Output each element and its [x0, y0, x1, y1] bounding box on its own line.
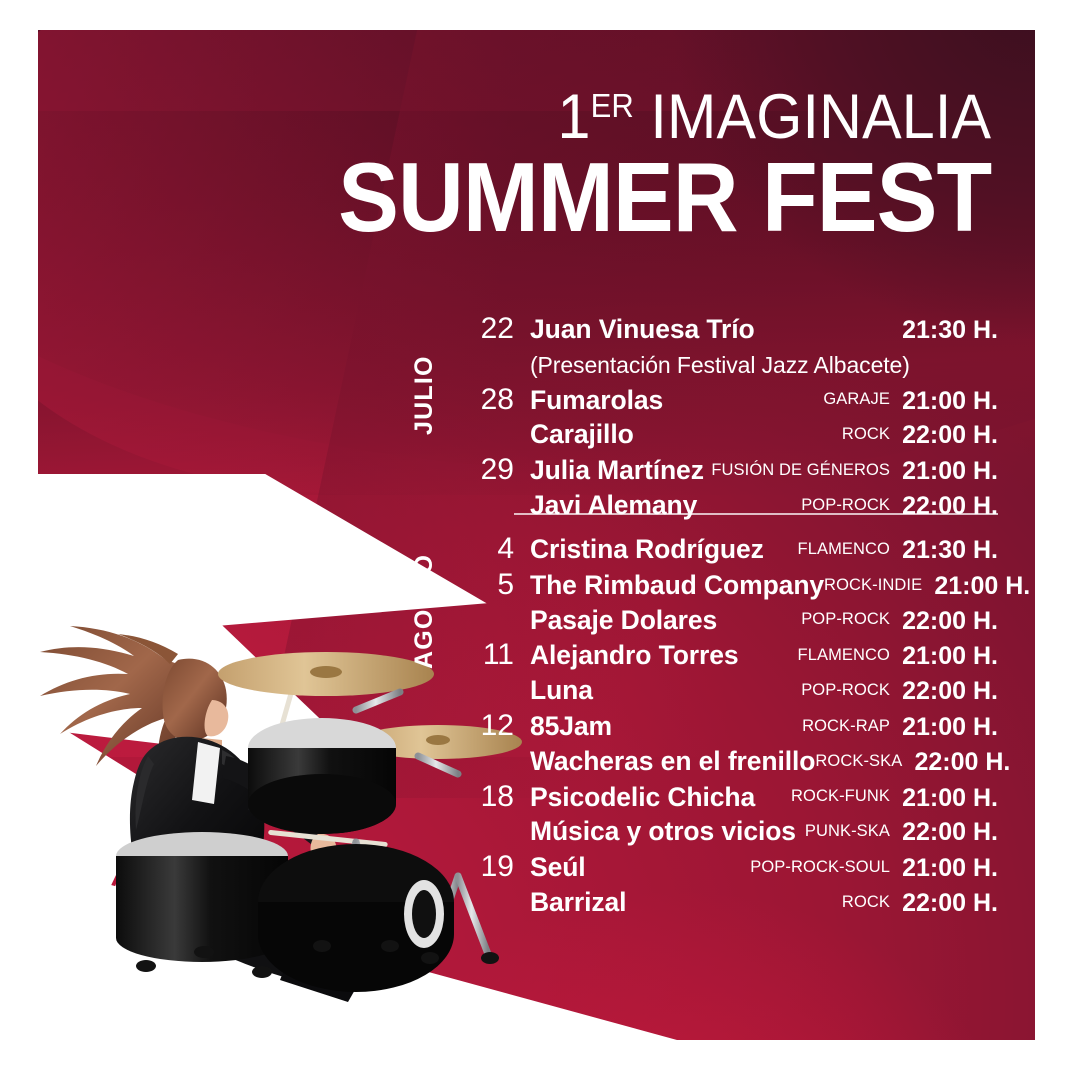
schedule-genre: ROCK-INDIE: [824, 576, 934, 595]
schedule-row: 18Psicodelic ChichaROCK-FUNK21:00 H.: [462, 780, 998, 815]
schedule-day-number: 28: [462, 383, 530, 418]
schedule-genre: FLAMENCO: [798, 540, 902, 559]
schedule-day-number: 18: [462, 780, 530, 815]
schedule-time: 22:00 H.: [902, 677, 998, 706]
poster-title-block: 1ER IMAGINALIA SUMMER FEST: [289, 86, 991, 244]
schedule-genre: POP-ROCK: [801, 610, 902, 629]
schedule-entry: 19SeúlPOP-ROCK-SOUL21:00 H.19BarrizalROC…: [462, 850, 998, 920]
schedule-act-name: The Rimbaud Company: [530, 570, 824, 601]
schedule-genre: ROCK-RAP: [802, 717, 902, 736]
schedule-time: 22:00 H.: [902, 607, 998, 636]
schedule-time: 21:00 H.: [934, 572, 1030, 601]
schedule-row: 29Javi AlemanyPOP-ROCK22:00 H.: [462, 488, 998, 523]
schedule-group-agosto: 4Cristina RodríguezFLAMENCO21:30 H.5The …: [462, 532, 998, 921]
schedule-row: 11LunaPOP-ROCK22:00 H.: [462, 673, 998, 708]
schedule-time: 21:00 H.: [902, 387, 998, 416]
schedule-time: 21:00 H.: [902, 457, 998, 486]
schedule-entry: 1285JamROCK-RAP21:00 H.12Wacheras en el …: [462, 709, 998, 779]
title-ordinal-suffix: ER: [590, 87, 633, 124]
schedule-time: 21:00 H.: [902, 642, 998, 671]
schedule-act-name: 85Jam: [530, 711, 802, 742]
schedule-row: 19BarrizalROCK22:00 H.: [462, 885, 998, 920]
schedule-act-name: Música y otros vicios: [530, 816, 805, 847]
schedule-act-name: Psicodelic Chicha: [530, 782, 791, 813]
schedule-genre: ROCK-FUNK: [791, 787, 902, 806]
schedule-act-name: Fumarolas: [530, 385, 823, 416]
schedule-entry: 18Psicodelic ChichaROCK-FUNK21:00 H.18Mú…: [462, 780, 998, 850]
schedule-day-number: 12: [462, 709, 530, 744]
schedule-act-name: Pasaje Dolares: [530, 605, 801, 636]
schedule-genre: FUSIÓN DE GÉNEROS: [711, 461, 902, 480]
schedule-entry: 22Juan Vinuesa Trío21:30 H.22(Presentaci…: [462, 312, 998, 382]
schedule-genre: ROCK-SKA: [815, 752, 914, 771]
schedule-group-julio: 22Juan Vinuesa Trío21:30 H.22(Presentaci…: [462, 312, 998, 524]
month-label-julio: JULIO: [410, 334, 444, 456]
schedule-genre: ROCK: [842, 893, 902, 912]
schedule-row: 4Cristina RodríguezFLAMENCO21:30 H.: [462, 532, 998, 567]
schedule-row: 11Alejandro TorresFLAMENCO21:00 H.: [462, 638, 998, 673]
schedule-genre: POP-ROCK: [801, 681, 902, 700]
schedule-time: 21:30 H.: [902, 316, 998, 345]
schedule-row: 28FumarolasGARAJE21:00 H.: [462, 383, 998, 418]
schedule-act-name: Wacheras en el frenillo: [530, 746, 815, 777]
title-line-two: SUMMER FEST: [338, 150, 991, 244]
schedule-act-name: Barrizal: [530, 887, 842, 918]
schedule-day-number: 22: [462, 312, 530, 347]
schedule-act-subtitle: (Presentación Festival Jazz Albacete): [530, 352, 910, 379]
schedule-day-number: 4: [462, 532, 530, 567]
schedule-time: 21:00 H.: [902, 784, 998, 813]
schedule-time: 22:00 H.: [902, 889, 998, 918]
schedule-genre: POP-ROCK-SOUL: [750, 858, 902, 877]
schedule-entry: 11Alejandro TorresFLAMENCO21:00 H.11Luna…: [462, 638, 998, 708]
festival-poster: 1ER IMAGINALIA SUMMER FEST JULIO AGOSTO …: [38, 30, 1035, 1040]
schedule-genre: ROCK: [842, 425, 902, 444]
schedule-time: 22:00 H.: [914, 748, 1010, 777]
schedule-genre: POP-ROCK: [801, 496, 902, 515]
schedule-time: 21:00 H.: [902, 854, 998, 883]
schedule-act-name: Julia Martínez: [530, 455, 711, 486]
schedule-day-number: 11: [462, 638, 530, 673]
schedule-genre: PUNK-SKA: [805, 822, 902, 841]
schedule-row: 5The Rimbaud CompanyROCK-INDIE21:00 H.: [462, 568, 998, 603]
schedule-time: 21:30 H.: [902, 536, 998, 565]
schedule-day-number: 29: [462, 453, 530, 488]
schedule-entry: 4Cristina RodríguezFLAMENCO21:30 H.: [462, 532, 998, 567]
schedule-row: 1285JamROCK-RAP21:00 H.: [462, 709, 998, 744]
schedule-entry: 5The Rimbaud CompanyROCK-INDIE21:00 H.5P…: [462, 568, 998, 638]
schedule-row: 22Juan Vinuesa Trío21:30 H.: [462, 312, 998, 347]
schedule-act-name: Juan Vinuesa Trío: [530, 314, 890, 345]
schedule-act-name: Luna: [530, 675, 801, 706]
schedule-time: 21:00 H.: [902, 713, 998, 742]
schedule-time: 22:00 H.: [902, 421, 998, 450]
schedule-act-name: Javi Alemany: [530, 490, 801, 521]
schedule-act-name: Carajillo: [530, 419, 842, 450]
schedule-time: 22:00 H.: [902, 492, 998, 521]
schedule-row: 12Wacheras en el frenilloROCK-SKA22:00 H…: [462, 744, 998, 779]
schedule-row: 28CarajilloROCK22:00 H.: [462, 417, 998, 452]
schedule-row: 5Pasaje DolaresPOP-ROCK22:00 H.: [462, 603, 998, 638]
title-line-one: 1ER IMAGINALIA: [331, 86, 991, 148]
schedule-day-number: 19: [462, 850, 530, 885]
schedule-act-name: Seúl: [530, 852, 750, 883]
schedule-row: 19SeúlPOP-ROCK-SOUL21:00 H.: [462, 850, 998, 885]
schedule-row: 18Música y otros viciosPUNK-SKA22:00 H.: [462, 814, 998, 849]
schedule-entry: 29Julia MartínezFUSIÓN DE GÉNEROS21:00 H…: [462, 453, 998, 523]
schedule-row: 29Julia MartínezFUSIÓN DE GÉNEROS21:00 H…: [462, 453, 998, 488]
schedule-row: 22(Presentación Festival Jazz Albacete)0…: [462, 347, 998, 382]
schedule-act-name: Alejandro Torres: [530, 640, 798, 671]
schedule-genre: GARAJE: [823, 390, 902, 409]
schedule-act-name: Cristina Rodríguez: [530, 534, 798, 565]
schedule-day-number: 5: [462, 568, 530, 603]
month-label-agosto: AGOSTO: [410, 520, 444, 702]
schedule-time: 22:00 H.: [902, 818, 998, 847]
schedule-entry: 28FumarolasGARAJE21:00 H.28CarajilloROCK…: [462, 383, 998, 453]
schedule-genre: FLAMENCO: [798, 646, 902, 665]
